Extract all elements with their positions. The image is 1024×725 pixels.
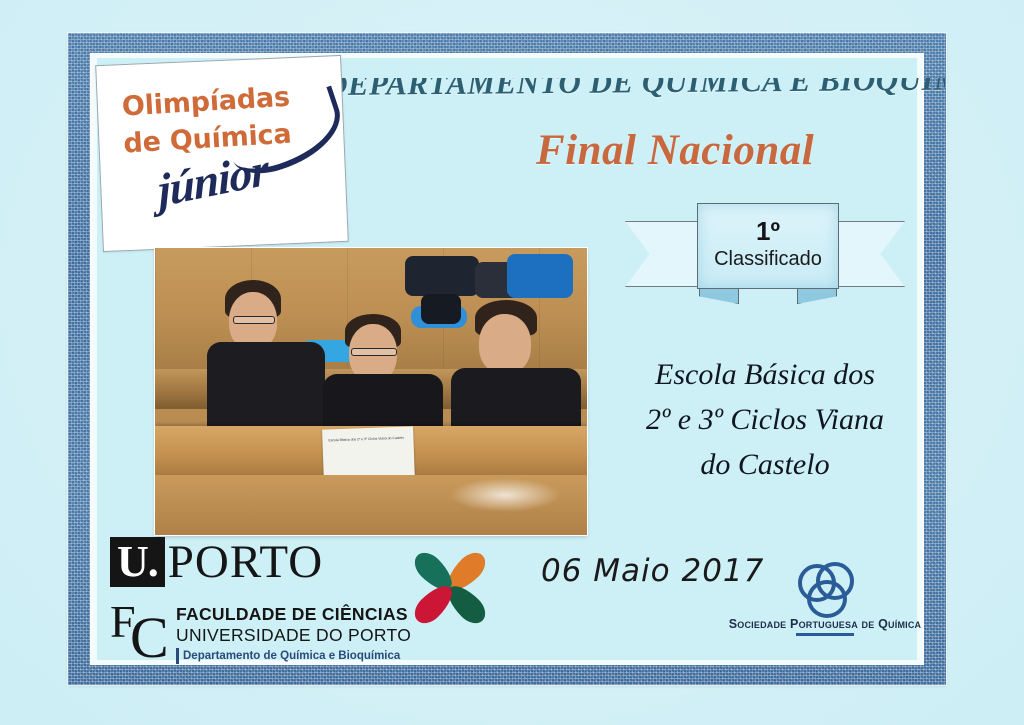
spq-triskelion-icon [798,562,852,614]
photo-glare [449,478,561,512]
ribbon-panel: 1º Classificado [697,203,839,289]
department-header: DEPARTAMENTO DE QUÍMICA E BIOQUÍMICA [325,78,945,114]
photo-bag-dark1 [405,256,479,296]
pinwheel-emblem-icon [398,536,502,640]
fcup-university-line: UNIVERSIDADE DO PORTO [176,625,411,646]
ribbon-place-number: 1º [698,216,838,247]
fcup-department-line: Departamento de Química e Bioquímica [176,648,411,664]
school-name: Escola Básica dos 2º e 3º Ciclos Viana d… [600,352,930,487]
photo-name-card-text: Escola Básica dos 2º e 3º Ciclos Viana d… [328,436,407,444]
spq-ring-3 [807,580,847,618]
ribbon-fold-left [699,287,739,304]
department-header-text: DEPARTAMENTO DE QUÍMICA E BIOQUÍMICA [325,78,945,103]
fcup-monogram-icon: F C [110,601,170,663]
photo-bag-blue1 [507,254,573,298]
placement-ribbon: 1º Classificado [625,203,905,303]
photo-student-middle-glasses-icon [351,348,397,356]
fcup-logo: F C FACULDADE DE CIÊNCIAS UNIVERSIDADE D… [110,601,411,664]
fcup-text-block: FACULDADE DE CIÊNCIAS UNIVERSIDADE DO PO… [176,601,411,664]
photo-student-right-head [479,314,531,374]
school-name-line2: 2º e 3º Ciclos Viana [600,397,930,442]
spq-underline [796,633,854,636]
uporto-u-badge: U. [110,537,165,587]
uporto-porto-text: PORTO [168,537,323,587]
spq-logo: Sociedade Portuguesa de Química [718,562,932,636]
fcup-monogram-c: C [130,609,169,667]
team-photo: Escola Básica dos 2º e 3º Ciclos Viana d… [155,248,587,535]
photo-student-left-glasses-icon [233,316,275,324]
school-name-line1: Escola Básica dos [600,352,930,397]
fcup-faculty-line: FACULDADE DE CIÊNCIAS [176,604,411,625]
uporto-wordmark: U. PORTO [110,537,411,587]
olimpiadas-logo-card: Olimpíadas de Química júnior [95,55,349,252]
ribbon-place-label: Classificado [698,248,838,271]
ribbon-fold-right [797,287,837,304]
spq-name-text: Sociedade Portuguesa de Química [718,617,932,631]
event-title: Final Nacional [536,126,814,175]
school-name-line3: do Castelo [600,442,930,487]
uporto-logo: U. PORTO F C FACULDADE DE CIÊNCIAS UNIVE… [110,537,411,664]
